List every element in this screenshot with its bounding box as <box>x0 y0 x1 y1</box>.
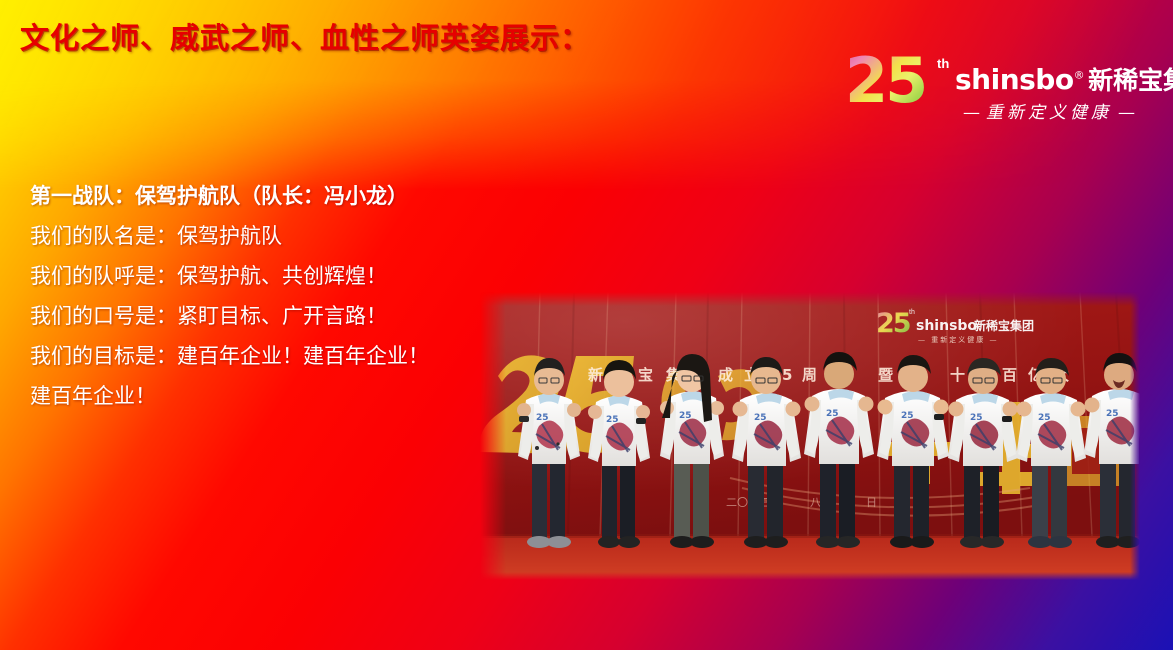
team-name-line: 我们的队名是：保驾护航队 <box>30 216 500 256</box>
svg-text:25: 25 <box>1038 413 1051 423</box>
svg-text:25: 25 <box>901 411 914 421</box>
photo-person-group: 25 <box>517 352 1140 548</box>
brand-lockup: shinsbo®新稀宝集团 <box>955 61 1173 97</box>
anniversary-suffix: th <box>937 56 949 71</box>
brand-chinese-text: 新稀宝集团 <box>1088 66 1173 95</box>
team-heading-line: 第一战队：保驾护航队（队长：冯小龙） <box>30 176 500 216</box>
brand-tagline: —重新定义健康— <box>957 98 1141 123</box>
team-goal-line: 我们的目标是：建百年企业！建百年企业！ <box>30 336 500 376</box>
page-title: 文化之师、威武之师、血性之师英姿展示： <box>20 15 590 57</box>
anniversary-number: 25 <box>845 52 945 114</box>
svg-text:25: 25 <box>970 413 983 423</box>
team-slogan-line: 我们的口号是：紧盯目标、广开言路！ <box>30 296 500 336</box>
svg-text:— 重新定义健康 —: — 重新定义健康 — <box>918 335 998 344</box>
svg-text:25: 25 <box>876 308 910 339</box>
team-goal-line-continued: 建百年企业！ <box>30 376 500 416</box>
team-photo: 25 th shinsbo 新稀宝集团 — 重新定义健康 — <box>480 292 1140 580</box>
svg-text:25: 25 <box>536 413 549 423</box>
team-chant-line: 我们的队呼是：保驾护航、共创辉煌！ <box>30 256 500 296</box>
slide-root: 文化之师、威武之师、血性之师英姿展示： 25 th shinsbo®新稀宝集团 … <box>0 0 1173 650</box>
svg-text:25: 25 <box>679 411 692 421</box>
svg-text:新稀宝集团: 新稀宝集团 <box>974 318 1034 333</box>
registered-trademark-icon: ® <box>1074 69 1085 82</box>
svg-text:周: 周 <box>802 366 817 384</box>
svg-text:th: th <box>909 309 915 316</box>
tagline-text: 重新定义健康 <box>986 103 1112 123</box>
svg-text:5: 5 <box>782 366 792 384</box>
svg-text:25: 25 <box>754 413 767 423</box>
svg-text:25: 25 <box>826 409 839 419</box>
corporate-logo: 25 th shinsbo®新稀宝集团 —重新定义健康— <box>845 52 1145 134</box>
svg-text:成: 成 <box>718 366 733 384</box>
svg-text:十: 十 <box>950 366 965 384</box>
team-description-block: 第一战队：保驾护航队（队长：冯小龙） 我们的队名是：保驾护航队 我们的队呼是：保… <box>30 176 500 416</box>
svg-text:宝: 宝 <box>638 366 653 384</box>
team-photo-illustration: 25 th shinsbo 新稀宝集团 — 重新定义健康 — <box>480 292 1140 580</box>
svg-text:25: 25 <box>1106 409 1119 419</box>
svg-text:shinsbo: shinsbo <box>916 318 977 334</box>
svg-text:暨: 暨 <box>878 366 893 384</box>
svg-text:新: 新 <box>588 366 603 384</box>
svg-text:百: 百 <box>1002 366 1017 384</box>
svg-text:25: 25 <box>606 415 619 425</box>
tagline-dash-right: — <box>1118 103 1135 123</box>
brand-latin-text: shinsbo <box>955 63 1074 96</box>
tagline-dash-left: — <box>963 103 980 123</box>
